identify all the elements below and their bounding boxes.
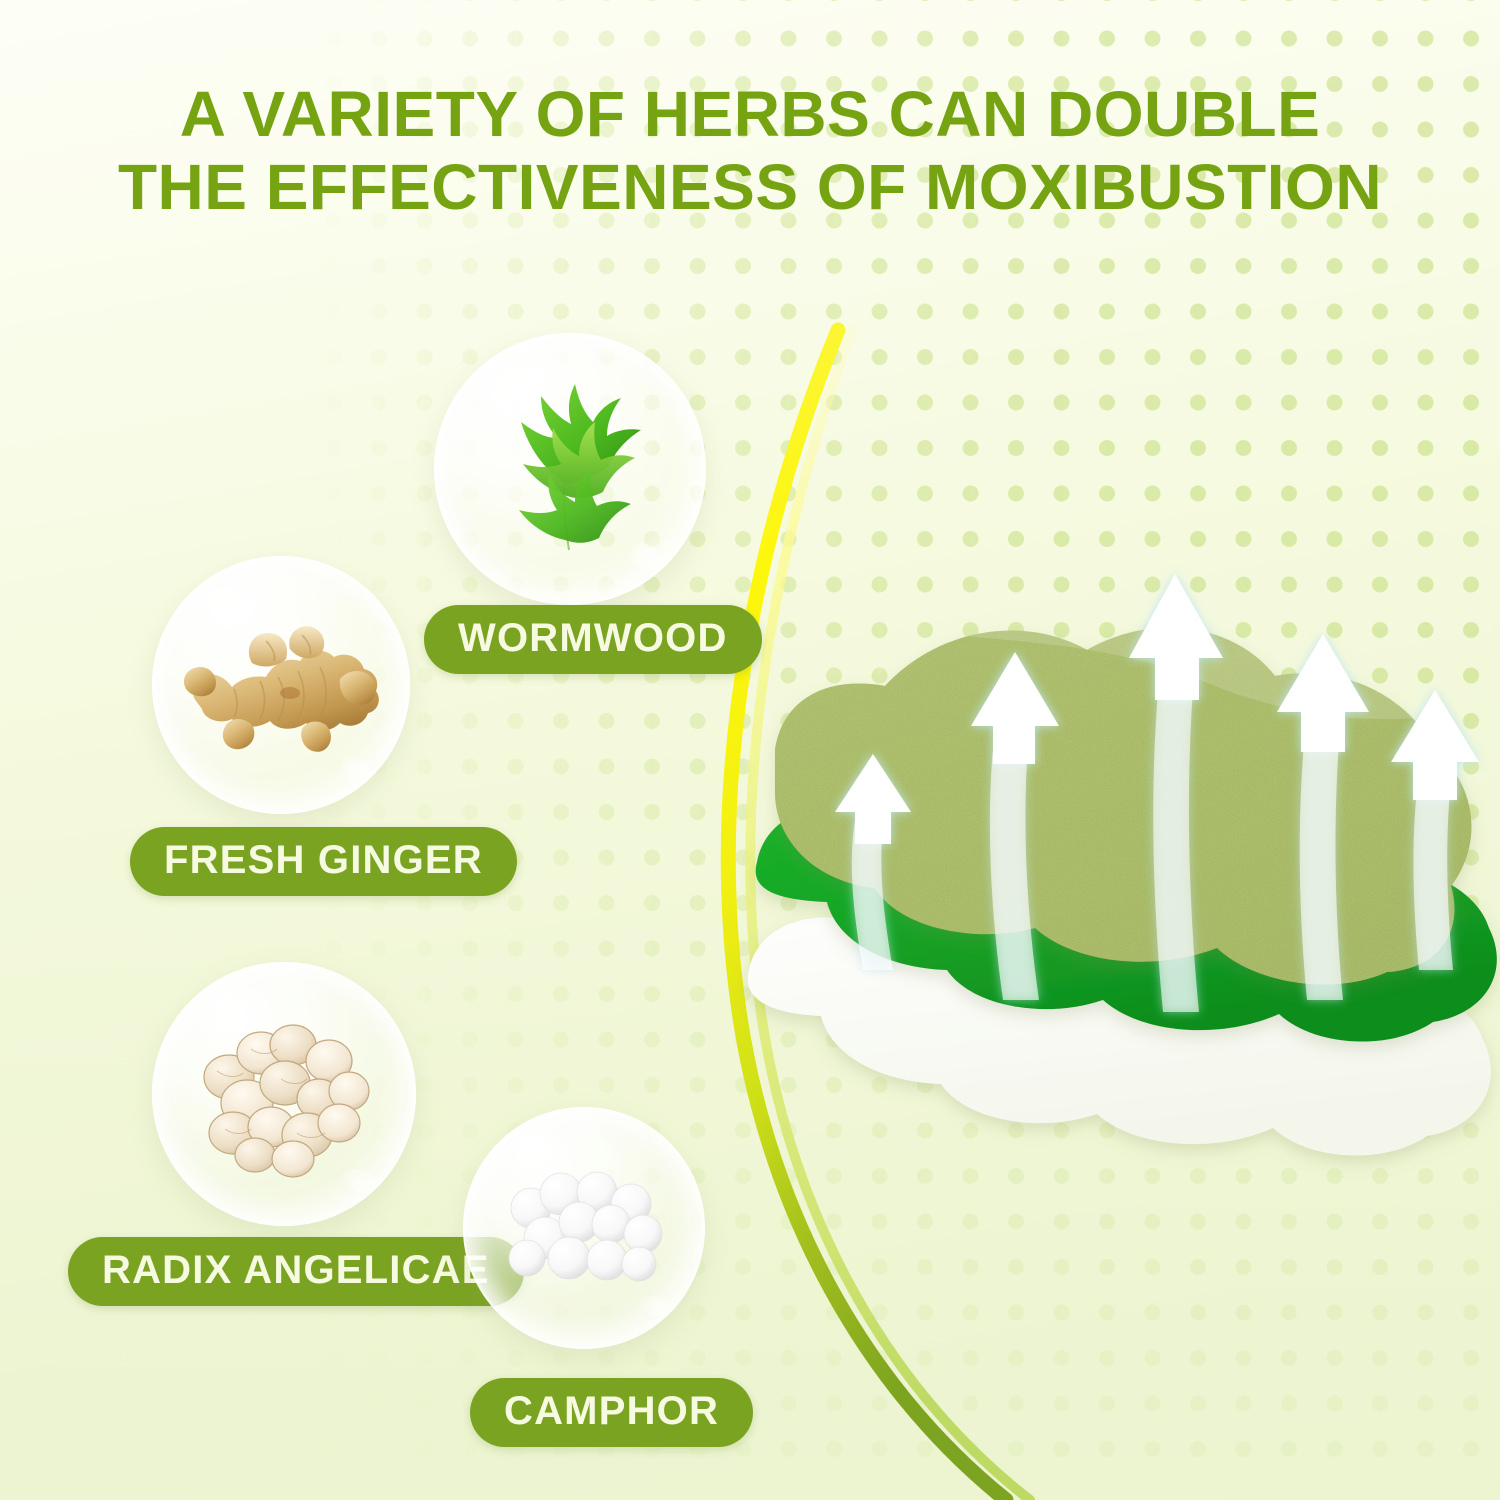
wormwood-leaves-icon: [465, 364, 675, 574]
angelica-slices-icon: [189, 1009, 379, 1179]
ingredient-label-radix-angelicae[interactable]: RADIX ANGELICAE: [68, 1237, 524, 1306]
ingredient-bubble-fresh-ginger[interactable]: [152, 556, 410, 814]
layered-moxibustion-patch: [735, 500, 1500, 1180]
ingredient-bubble-wormwood[interactable]: [434, 333, 706, 605]
ingredient-label-fresh-ginger[interactable]: FRESH GINGER: [130, 827, 517, 896]
bubble-highlight: [494, 1117, 573, 1188]
ingredient-label-wormwood[interactable]: WORMWOOD: [424, 605, 762, 674]
ingredient-bubble-camphor[interactable]: [463, 1107, 705, 1349]
bubble-highlight: [185, 568, 269, 643]
bubble-highlight-small: [637, 1292, 674, 1322]
ginger-root-icon: [174, 605, 389, 765]
bubble-highlight: [187, 975, 273, 1053]
bubble-highlight-small: [337, 753, 376, 785]
bubble-highlight-small: [625, 539, 669, 575]
ingredient-bubble-radix-angelicae[interactable]: [152, 962, 416, 1226]
bubble-highlight: [471, 347, 560, 426]
infographic-canvas: A VARIETY OF HERBS CAN DOUBLE THE EFFECT…: [0, 0, 1500, 1500]
camphor-balls-icon: [499, 1166, 669, 1291]
bubble-highlight-small: [339, 1165, 380, 1198]
page-title: A VARIETY OF HERBS CAN DOUBLE THE EFFECT…: [0, 78, 1500, 224]
ingredient-label-camphor[interactable]: CAMPHOR: [470, 1378, 753, 1447]
